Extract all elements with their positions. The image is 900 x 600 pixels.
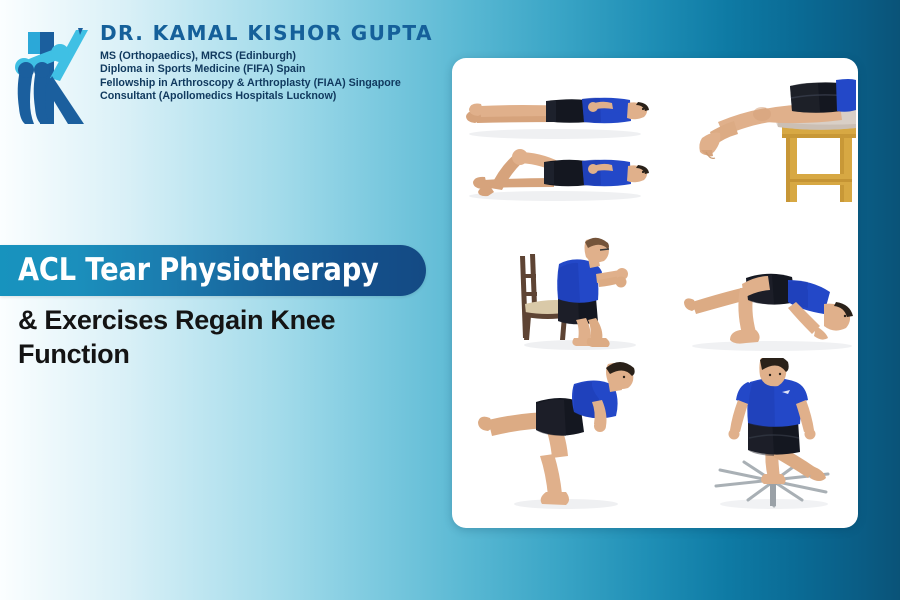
credential-line: Diploma in Sports Medicine (FIFA) Spain <box>100 63 445 77</box>
credential-line: MS (Orthopaedics), MRCS (Edinburgh) <box>100 50 445 64</box>
k-bone-joint-logo-icon <box>14 26 88 130</box>
exercise-photo-single-leg-deadlift <box>474 358 640 510</box>
photo-stage <box>452 58 858 528</box>
exercise-photo-balance-board <box>704 358 844 510</box>
exercise-photo-glute-bridge <box>684 258 856 354</box>
exercise-photo-chair-squat <box>512 228 642 352</box>
exercise-photo-heel-slide-start <box>460 80 650 140</box>
subheadline-line-2: Function <box>18 337 408 371</box>
exercise-photo-heel-slide-bend <box>460 140 650 202</box>
brand-text-block: DR. KAMAL KISHOR GUPTA MS (Orthopaedics)… <box>100 22 445 104</box>
credential-list: MS (Orthopaedics), MRCS (Edinburgh) Dipl… <box>100 50 445 104</box>
headline-title: ACL Tear Physiotherapy <box>18 248 370 293</box>
subheadline-line-1: & Exercises Regain Knee <box>18 303 408 337</box>
brand-header: DR. KAMAL KISHOR GUPTA MS (Orthopaedics)… <box>14 22 434 132</box>
brand-name: DR. KAMAL KISHOR GUPTA <box>100 22 438 45</box>
exercise-photo-card <box>452 58 858 528</box>
subheadline: & Exercises Regain Knee Function <box>18 303 408 371</box>
poster-root: DR. KAMAL KISHOR GUPTA MS (Orthopaedics)… <box>0 0 900 600</box>
credential-line: Consultant (Apollomedics Hospitals Luckn… <box>100 90 445 104</box>
credential-line: Fellowship in Arthroscopy & Arthroplasty… <box>100 77 445 91</box>
exercise-photo-prone-hang <box>690 76 856 206</box>
